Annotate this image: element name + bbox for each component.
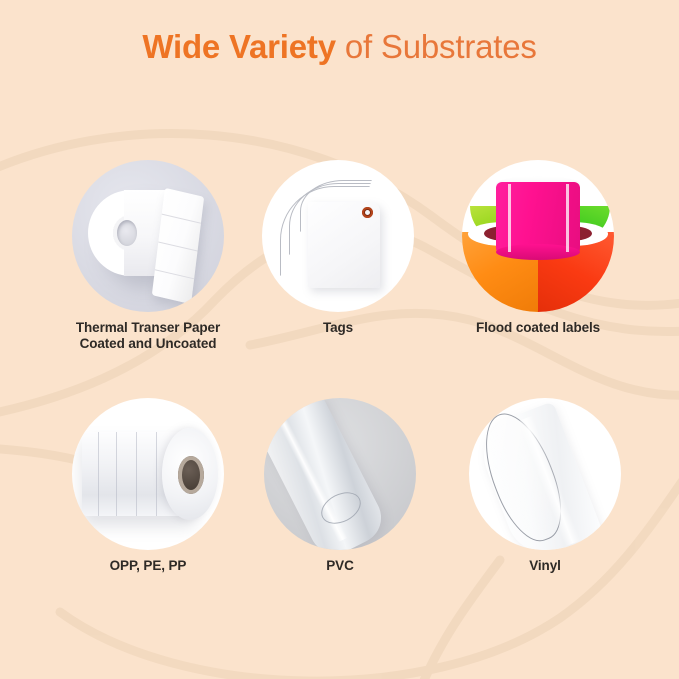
- opp-pe-pp-image: [72, 398, 224, 550]
- pink-roll-seam: [508, 184, 511, 252]
- colored-label-rolls-icon: [462, 160, 614, 312]
- substrate-caption-line1: PVC: [326, 558, 353, 573]
- substrate-caption-line1: OPP, PE, PP: [110, 558, 187, 573]
- pink-roll-seam: [566, 184, 569, 252]
- substrate-caption: Tags: [223, 320, 453, 336]
- tag-eyelet-icon: [362, 207, 373, 218]
- substrate-item-opp-pe-pp[interactable]: OPP, PE, PP: [48, 398, 248, 598]
- thermal-transfer-paper-image: [72, 160, 224, 312]
- substrate-caption-line2: Coated and Uncoated: [33, 336, 263, 352]
- substrate-item-vinyl[interactable]: Vinyl: [445, 398, 645, 598]
- substrate-item-flood-coated-labels[interactable]: Flood coated labels: [438, 160, 638, 360]
- substrate-caption-line1: Flood coated labels: [476, 320, 600, 335]
- flood-coated-labels-image: [462, 160, 614, 312]
- substrate-caption: Flood coated labels: [423, 320, 653, 336]
- page-title-emphasis: Wide Variety: [142, 28, 336, 65]
- substrate-caption-line1: Tags: [323, 320, 353, 335]
- page-title: Wide Variety of Substrates: [0, 26, 679, 68]
- substrate-item-thermal-transfer-paper[interactable]: Thermal Transer Paper Coated and Uncoate…: [48, 160, 248, 360]
- substrate-item-pvc[interactable]: PVC: [240, 398, 440, 598]
- substrate-caption: PVC: [225, 558, 455, 574]
- page-title-rest: of Substrates: [336, 28, 537, 65]
- tags-image: [262, 160, 414, 312]
- film-roll-core-icon: [178, 456, 204, 494]
- substrate-row-top: Thermal Transer Paper Coated and Uncoate…: [0, 160, 679, 360]
- substrate-caption-line1: Vinyl: [529, 558, 561, 573]
- substrate-row-bottom: OPP, PE, PP PVC Vinyl: [0, 398, 679, 598]
- pvc-image: [264, 398, 416, 550]
- vinyl-image: [469, 398, 621, 550]
- substrates-infographic: Wide Variety of Substrates Thermal Trans…: [0, 0, 679, 679]
- label-roll-core-hole-icon: [117, 220, 137, 246]
- substrate-caption: Vinyl: [430, 558, 660, 574]
- substrate-item-tags[interactable]: Tags: [238, 160, 438, 360]
- substrate-caption-line1: Thermal Transer Paper: [76, 320, 220, 335]
